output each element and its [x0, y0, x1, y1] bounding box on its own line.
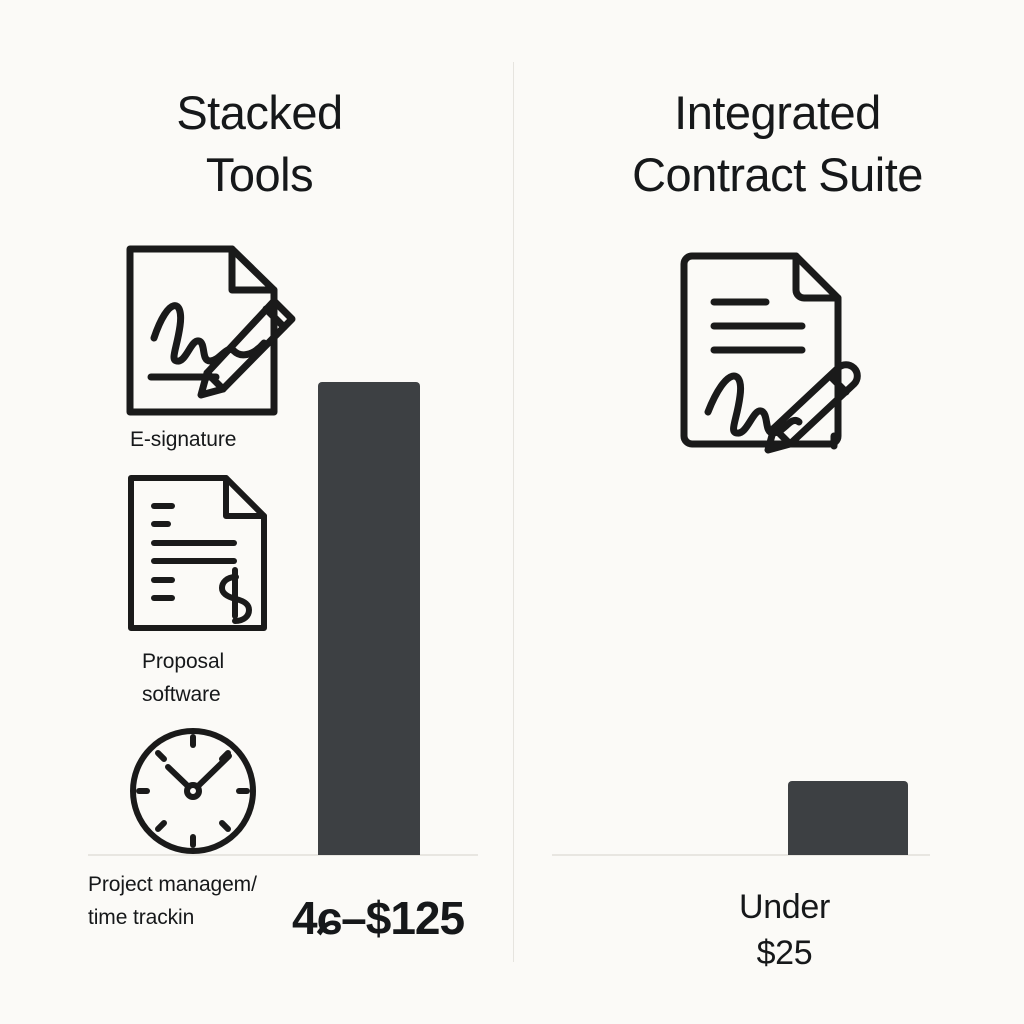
right-cost-bar [788, 781, 908, 855]
clock-icon [128, 726, 258, 856]
contract-signature-pen-icon [678, 250, 878, 460]
document-signature-icon [124, 243, 289, 418]
left-price-label: 4ɕ–$125 [292, 893, 464, 943]
item-label-e-signature: E-signature [130, 423, 236, 456]
left-cost-bar [318, 382, 420, 855]
comparison-infographic: Stacked Tools E-signature [0, 0, 1024, 1024]
right-panel-title: Integrated Contract Suite [513, 82, 1024, 206]
left-panel-stacked-tools: Stacked Tools E-signature [0, 0, 513, 1024]
item-label-proposal-software: Proposal software [142, 645, 224, 711]
document-dollar-icon [126, 473, 271, 633]
panel-divider [513, 62, 514, 962]
right-price-label: Under $25 [513, 884, 1024, 976]
left-panel-title: Stacked Tools [0, 82, 513, 206]
item-label-project-management: Project managem/ time trackin [88, 868, 257, 934]
right-panel-integrated-suite: Integrated Contract Suite [513, 0, 1024, 1024]
